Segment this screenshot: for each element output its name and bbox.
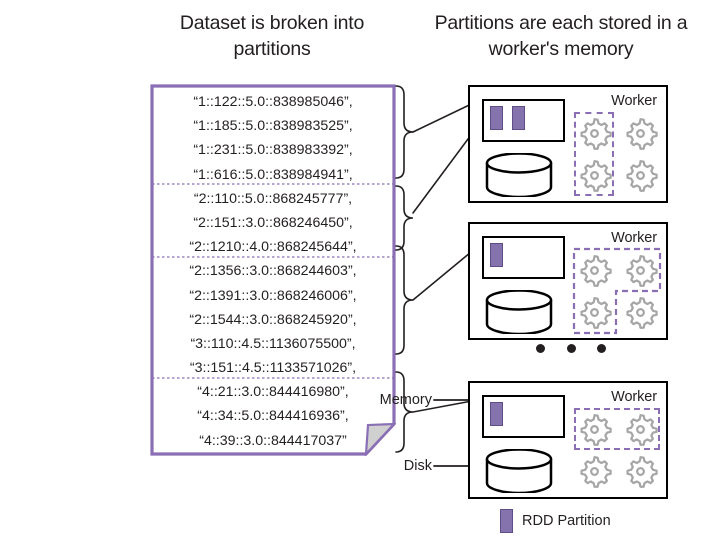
gear-icon bbox=[622, 157, 659, 194]
diagram-canvas: Dataset is broken into partitions Partit… bbox=[0, 0, 720, 540]
rdd-partition-block bbox=[490, 106, 503, 130]
gear-icon bbox=[622, 252, 659, 289]
memory-box bbox=[482, 99, 565, 142]
memory-label: Memory bbox=[370, 392, 432, 408]
gear-icon bbox=[622, 453, 659, 490]
gear-icon bbox=[576, 115, 613, 152]
brace-partition-3 bbox=[396, 246, 413, 354]
gear-icon bbox=[576, 252, 613, 289]
disk-icon bbox=[484, 153, 554, 197]
disk-icon bbox=[484, 449, 554, 493]
gear-icon bbox=[622, 294, 659, 331]
ellipsis-dot bbox=[567, 344, 576, 353]
rdd-partition-block bbox=[490, 402, 503, 426]
legend-label-rdd-partition: RDD Partition bbox=[522, 513, 611, 529]
disk-label: Disk bbox=[386, 458, 432, 474]
worker-label: Worker bbox=[611, 93, 657, 109]
worker-label: Worker bbox=[611, 389, 657, 405]
worker-node-3[interactable]: Worker bbox=[468, 381, 668, 499]
ellipsis-dot bbox=[597, 344, 606, 353]
ellipsis-dot bbox=[536, 344, 545, 353]
rdd-partition-block bbox=[512, 106, 525, 130]
gear-icon bbox=[576, 453, 613, 490]
worker-node-2[interactable]: Worker bbox=[468, 222, 668, 340]
gear-icon bbox=[576, 157, 613, 194]
worker-node-1[interactable]: Worker bbox=[468, 85, 668, 203]
brace-partition-2 bbox=[396, 186, 413, 250]
brace-partition-1 bbox=[396, 86, 413, 178]
gear-icon bbox=[576, 294, 613, 331]
legend: RDD Partition bbox=[500, 509, 611, 533]
more-workers-ellipsis bbox=[536, 344, 606, 353]
gear-icon bbox=[622, 411, 659, 448]
brace-partition-4 bbox=[396, 372, 413, 452]
legend-swatch-rdd-partition bbox=[500, 509, 513, 533]
gear-icon bbox=[576, 411, 613, 448]
memory-box bbox=[482, 395, 565, 438]
gear-icon bbox=[622, 115, 659, 152]
